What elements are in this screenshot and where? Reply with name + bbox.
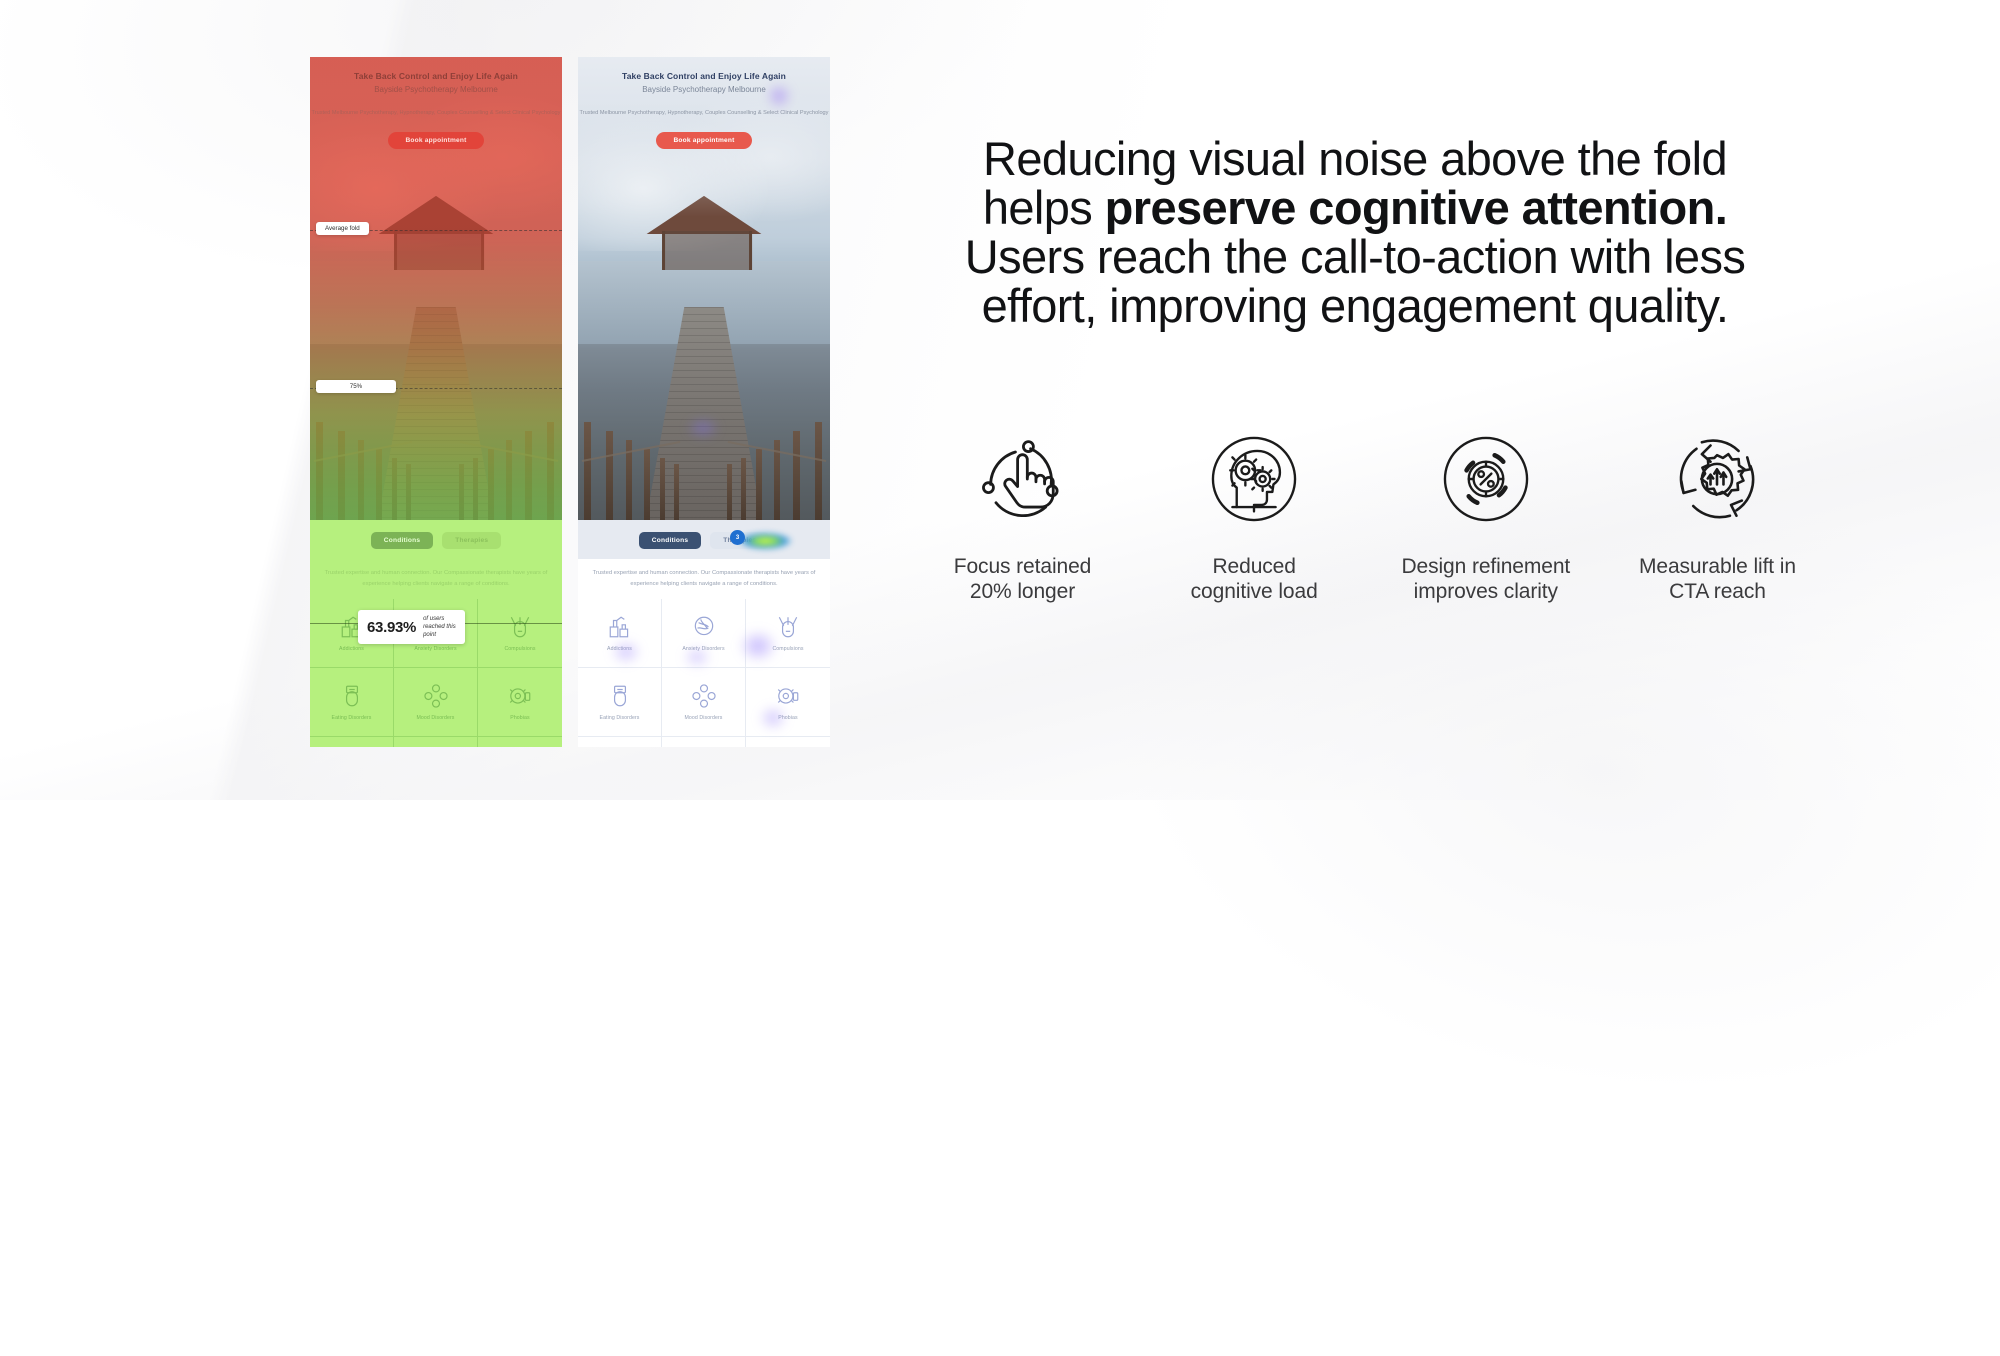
grid-cell-label: Mood Disorders [416, 715, 454, 721]
mockup-clean-screen: Take Back Control and Enjoy Life Again B… [578, 57, 830, 747]
feature-item-measurable-lift: Measurable lift in CTA reach [1615, 425, 1820, 605]
feature-caption-line-2: improves clarity [1414, 580, 1558, 603]
grid-cell-label: Mood Disorders [684, 715, 722, 721]
grid-cell[interactable]: Mood Disorders [394, 668, 478, 737]
feature-caption-line-2: 20% longer [970, 580, 1075, 603]
grid-cell-label: Eating Disorders [600, 715, 640, 721]
feature-caption-line-1: Reduced [1212, 555, 1295, 578]
feature-caption: Design refinement improves clarity [1401, 555, 1570, 605]
grid-cell[interactable]: Self Esteem [394, 737, 478, 747]
grid-cell[interactable]: Anxiety Disorders [662, 599, 746, 668]
grid-cell[interactable]: Mood Disorders [662, 668, 746, 737]
grid-cell-label: Anxiety Disorders [682, 646, 724, 652]
grid-cell[interactable]: Compulsions [478, 599, 562, 668]
four-faces-icon [691, 683, 717, 709]
four-faces-icon [423, 683, 449, 709]
grid-cell[interactable]: Relationships [310, 737, 394, 747]
site-body-copy: Trusted Melbourne Psychotherapy, Hypnoth… [578, 109, 830, 119]
grid-cell[interactable]: Trauma [746, 737, 830, 747]
headline-line-1: Reducing visual noise above the fold [905, 135, 1805, 184]
hero-text-block: Take Back Control and Enjoy Life Again B… [310, 57, 562, 149]
feature-caption-line-2: cognitive load [1191, 580, 1318, 603]
grid-cell-label: Eating Disorders [332, 715, 372, 721]
grid-cell-label: Anxiety Disorders [414, 646, 456, 652]
tangled-brain-icon [691, 614, 717, 640]
tabs-row: Conditions 3 Therapies [588, 532, 820, 549]
section-copy: Trusted expertise and human connection. … [578, 559, 830, 599]
feature-caption: Measurable lift in CTA reach [1639, 555, 1796, 605]
mockup-heatmap-screen: Take Back Control and Enjoy Life Again B… [310, 57, 562, 747]
grid-cell[interactable]: Eating Disorders [310, 668, 394, 737]
mockup-pair: Take Back Control and Enjoy Life Again B… [310, 57, 805, 747]
percent-refresh-icon [1432, 425, 1540, 533]
headline-line-2-bold: preserve cognitive attention. [1105, 181, 1728, 234]
page-title: Reducing visual noise above the fold hel… [905, 135, 1805, 331]
grid-cell-label: Addictions [339, 646, 364, 652]
tab-click-badge: 3 [730, 530, 745, 545]
spider-phone-icon [775, 683, 801, 709]
conditions-grid: Addictions Anxiety Disorders Compulsions… [578, 599, 830, 747]
tab-conditions[interactable]: Conditions [639, 532, 701, 549]
hero-text-block: Take Back Control and Enjoy Life Again B… [578, 57, 830, 149]
headline-line-4: effort, improving engagement quality. [905, 282, 1805, 331]
feature-caption-line-2: CTA reach [1669, 580, 1766, 603]
site-title: Take Back Control and Enjoy Life Again [310, 71, 562, 82]
site-lower-section-clean: Conditions 3 Therapies Trusted expertise… [578, 520, 830, 747]
scroll-depth-note: of users reached this point [423, 615, 456, 639]
mockup-heatmap-phone[interactable]: Take Back Control and Enjoy Life Again B… [310, 57, 562, 747]
headline-line-2: helps preserve cognitive attention. [905, 184, 1805, 233]
grid-cell[interactable]: Relationships [578, 737, 662, 747]
site-body-copy: Trusted Melbourne Psychotherapy, Hypnoth… [310, 109, 562, 119]
click-heat-blob [738, 532, 793, 550]
seventy-five-percent-chip: 75% [316, 380, 396, 393]
background-swoosh-bottom [822, 184, 2000, 1355]
spider-phone-icon [507, 683, 533, 709]
background-texture [0, 0, 2000, 800]
grid-cell[interactable]: Phobias [478, 668, 562, 737]
feature-caption-line-1: Design refinement [1401, 555, 1570, 578]
grid-cell-label: Phobias [778, 715, 797, 721]
tab-conditions[interactable]: Conditions [371, 532, 433, 549]
face-strings-icon [775, 614, 801, 640]
tap-gesture-icon [969, 425, 1077, 533]
site-subtitle: Bayside Psychotherapy Melbourne [578, 84, 830, 96]
site-title: Take Back Control and Enjoy Life Again [578, 71, 830, 82]
feature-caption-line-1: Focus retained [954, 555, 1092, 578]
grid-cell[interactable]: Self Esteem [662, 737, 746, 747]
book-appointment-button[interactable]: Book appointment [656, 132, 751, 149]
mockup-clean-phone[interactable]: Take Back Control and Enjoy Life Again B… [578, 57, 830, 747]
grid-cell-label: Addictions [607, 646, 632, 652]
headline-block: Reducing visual noise above the fold hel… [905, 135, 1805, 331]
tabs-row: Conditions Therapies [320, 532, 552, 549]
average-fold-chip: Average fold [316, 222, 369, 235]
feature-row: Focus retained 20% longer Reduced cognit… [920, 425, 1820, 605]
grid-cell[interactable]: Trauma [478, 737, 562, 747]
book-appointment-button[interactable]: Book appointment [388, 132, 483, 149]
feature-caption-line-1: Measurable lift in [1639, 555, 1796, 578]
tabs-row-wrapper: Conditions Therapies [310, 520, 562, 559]
tab-therapies[interactable]: Therapies [442, 532, 501, 549]
grid-cell-label: Compulsions [504, 646, 535, 652]
headline-line-3: Users reach the call-to-action with less [905, 233, 1805, 282]
feature-item-focus-retained: Focus retained 20% longer [920, 425, 1125, 605]
bottles-icon [607, 614, 633, 640]
grid-cell[interactable]: Eating Disorders [578, 668, 662, 737]
feature-item-reduced-cognitive-load: Reduced cognitive load [1152, 425, 1357, 605]
feature-caption: Focus retained 20% longer [954, 555, 1092, 605]
grid-cell[interactable]: Compulsions [746, 599, 830, 668]
grid-cell-label: Phobias [510, 715, 529, 721]
section-copy: Trusted expertise and human connection. … [310, 559, 562, 599]
grid-cell[interactable]: Addictions [578, 599, 662, 668]
face-fork-icon [607, 683, 633, 709]
tabs-row-wrapper: Conditions 3 Therapies [578, 520, 830, 559]
gear-arrows-up-icon [1663, 425, 1771, 533]
scroll-depth-tooltip: 63.93% of users reached this point [358, 610, 465, 644]
grid-cell[interactable]: Phobias [746, 668, 830, 737]
face-strings-icon [507, 614, 533, 640]
feature-caption: Reduced cognitive load [1191, 555, 1318, 605]
grid-cell-label: Compulsions [772, 646, 803, 652]
head-gears-icon [1200, 425, 1308, 533]
headline-line-2-plain: helps [983, 181, 1105, 234]
site-subtitle: Bayside Psychotherapy Melbourne [310, 84, 562, 96]
face-fork-icon [339, 683, 365, 709]
feature-item-design-refinement: Design refinement improves clarity [1383, 425, 1588, 605]
scroll-depth-value: 63.93% [367, 619, 416, 636]
